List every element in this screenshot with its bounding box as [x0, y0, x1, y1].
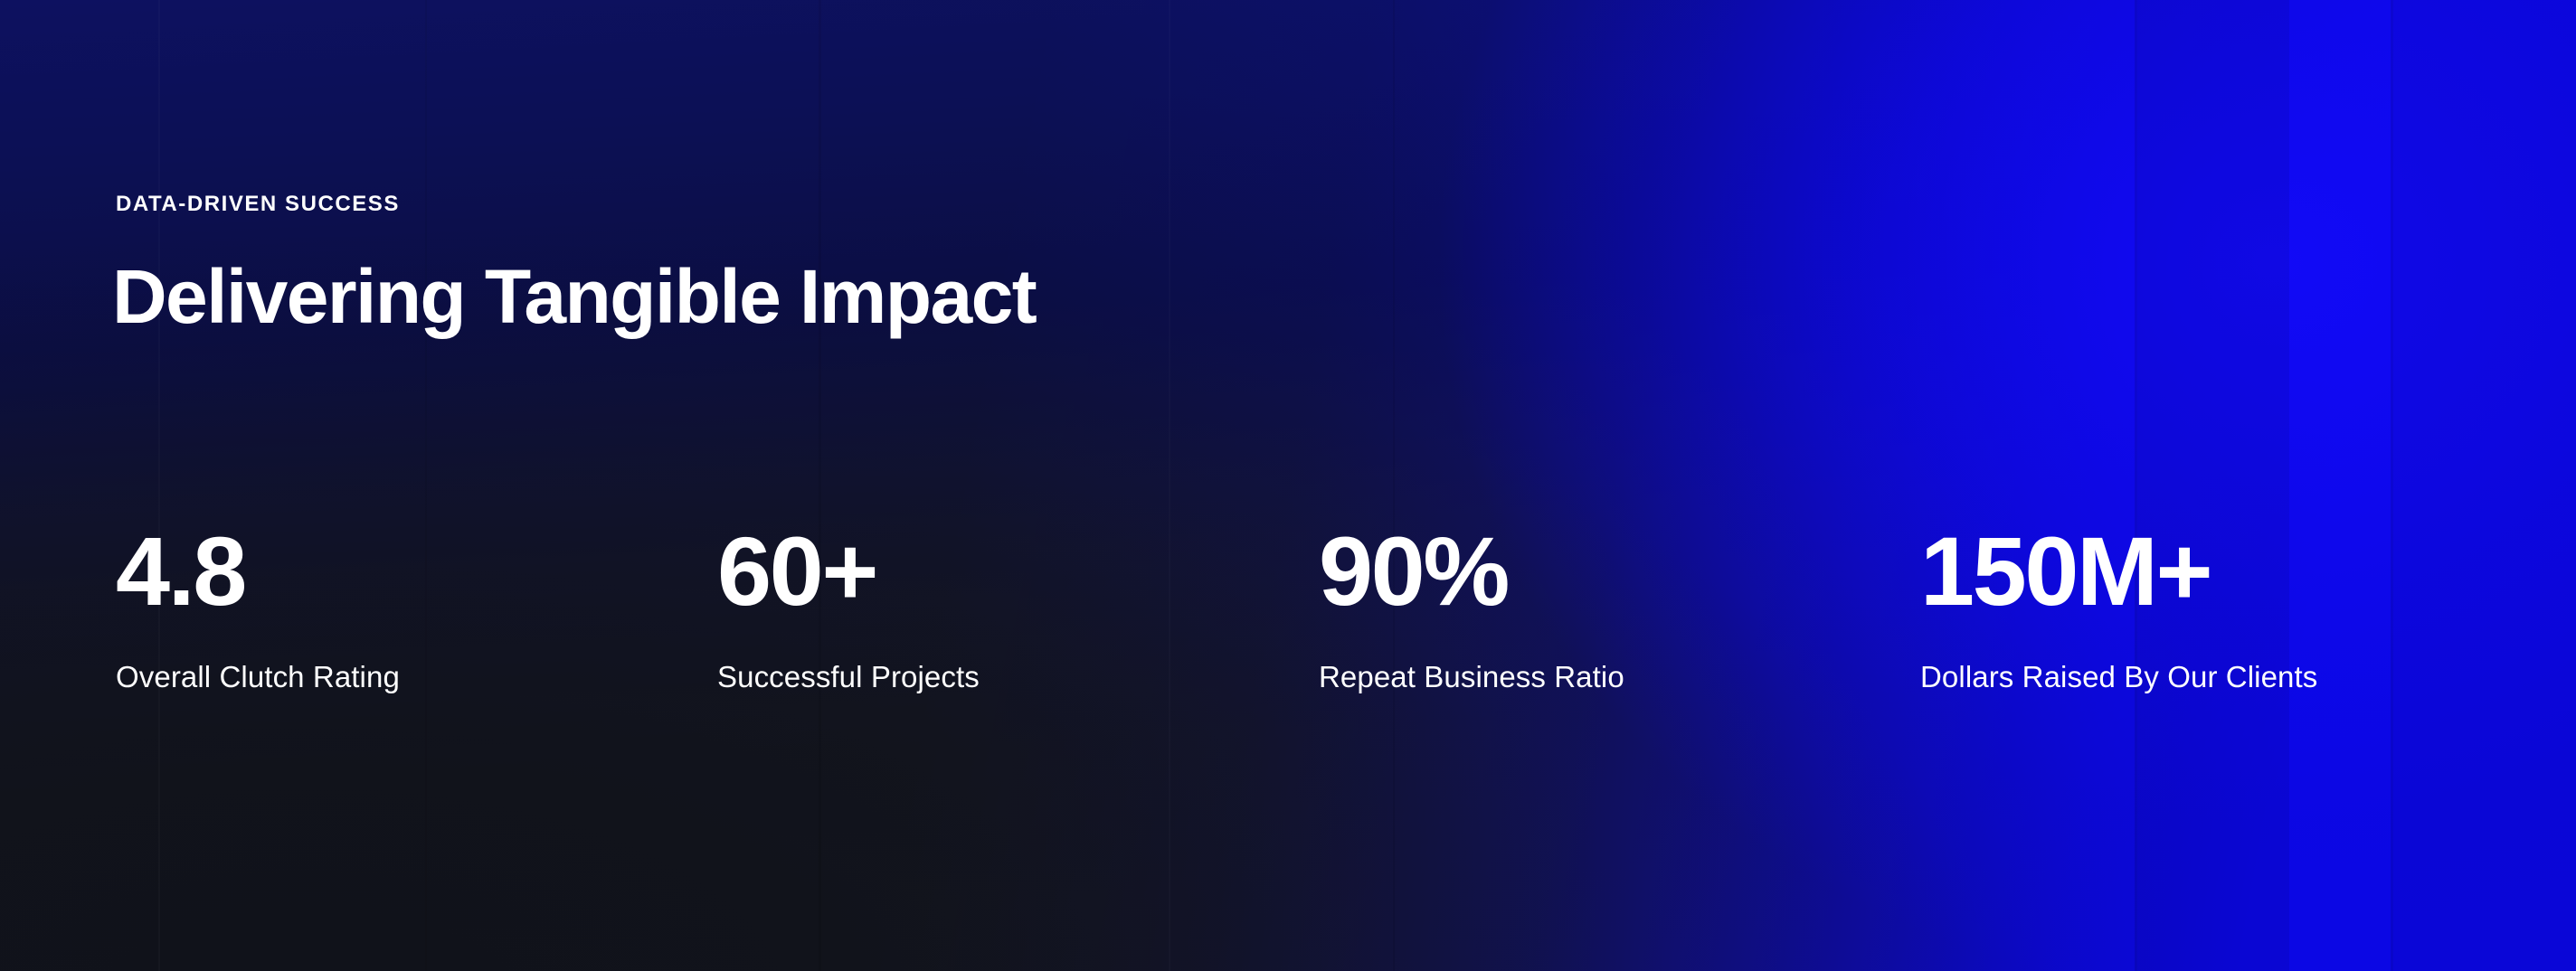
stat-label: Successful Projects — [717, 659, 1319, 695]
stat-value: 60+ — [717, 523, 1319, 620]
page-title: Delivering Tangible Impact — [112, 256, 1036, 338]
stats-list: 4.8 Overall Clutch Rating 60+ Successful… — [116, 523, 2460, 695]
stat-label: Dollars Raised By Our Clients — [1920, 659, 2522, 695]
stat-item-dollars-raised: 150M+ Dollars Raised By Our Clients — [1920, 523, 2522, 695]
stat-item-successful-projects: 60+ Successful Projects — [717, 523, 1319, 695]
stat-label: Overall Clutch Rating — [116, 659, 717, 695]
stat-item-clutch-rating: 4.8 Overall Clutch Rating — [116, 523, 717, 695]
stat-value: 150M+ — [1920, 523, 2522, 620]
stat-value: 90% — [1319, 523, 1920, 620]
stat-value: 4.8 — [116, 523, 717, 620]
stat-item-repeat-business: 90% Repeat Business Ratio — [1319, 523, 1920, 695]
stats-content: DATA-DRIVEN SUCCESS Delivering Tangible … — [0, 0, 2576, 971]
stat-label: Repeat Business Ratio — [1319, 659, 1920, 695]
section-eyebrow: DATA-DRIVEN SUCCESS — [116, 193, 400, 215]
stats-banner: DATA-DRIVEN SUCCESS Delivering Tangible … — [0, 0, 2576, 971]
